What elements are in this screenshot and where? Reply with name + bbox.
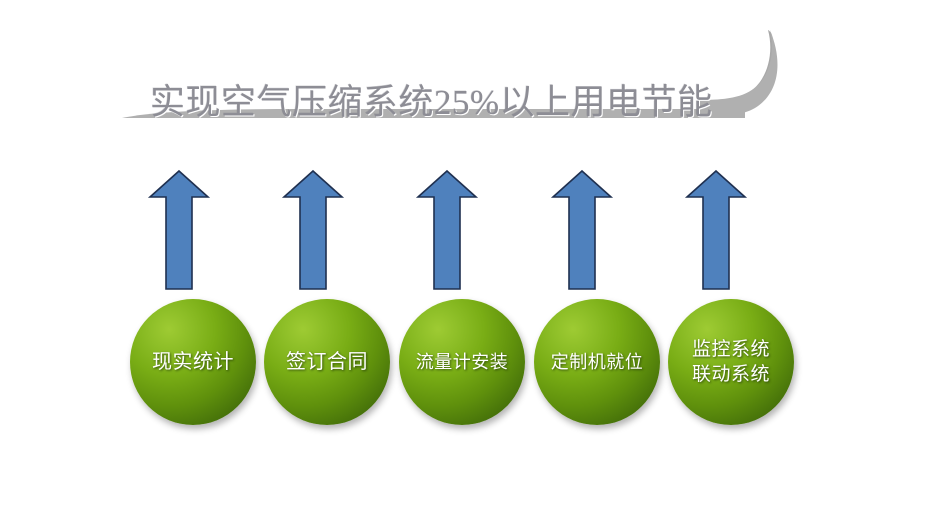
step-label-5: 监控系统 联动系统	[688, 337, 774, 387]
step-label-2: 签订合同	[282, 350, 372, 374]
step-label-4: 定制机就位	[547, 350, 648, 374]
step-label-1: 现实统计	[148, 350, 238, 374]
step-circle-2[interactable]: 签订合同	[264, 299, 390, 425]
title-banner: 实现空气压缩系统25%以上用电节能	[0, 28, 945, 148]
arrow-up-icon-3	[415, 168, 479, 292]
step-circle-1[interactable]: 现实统计	[130, 299, 256, 425]
slide-canvas: 实现空气压缩系统25%以上用电节能 现实统计 签订合同 流量计安装	[0, 0, 945, 529]
page-title: 实现空气压缩系统25%以上用电节能	[150, 74, 770, 132]
steps-row: 现实统计 签订合同 流量计安装 定制机就位 监控系统 联动系统	[0, 299, 945, 429]
arrow-up-icon-5	[684, 168, 748, 292]
arrow-up-icon-1	[147, 168, 211, 292]
arrow-up-icon-4	[550, 168, 614, 292]
step-circle-3[interactable]: 流量计安装	[399, 299, 525, 425]
step-circle-5[interactable]: 监控系统 联动系统	[668, 299, 794, 425]
step-circle-4[interactable]: 定制机就位	[534, 299, 660, 425]
arrow-up-icon-2	[281, 168, 345, 292]
step-label-3: 流量计安装	[412, 350, 513, 374]
arrows-row	[0, 168, 945, 296]
